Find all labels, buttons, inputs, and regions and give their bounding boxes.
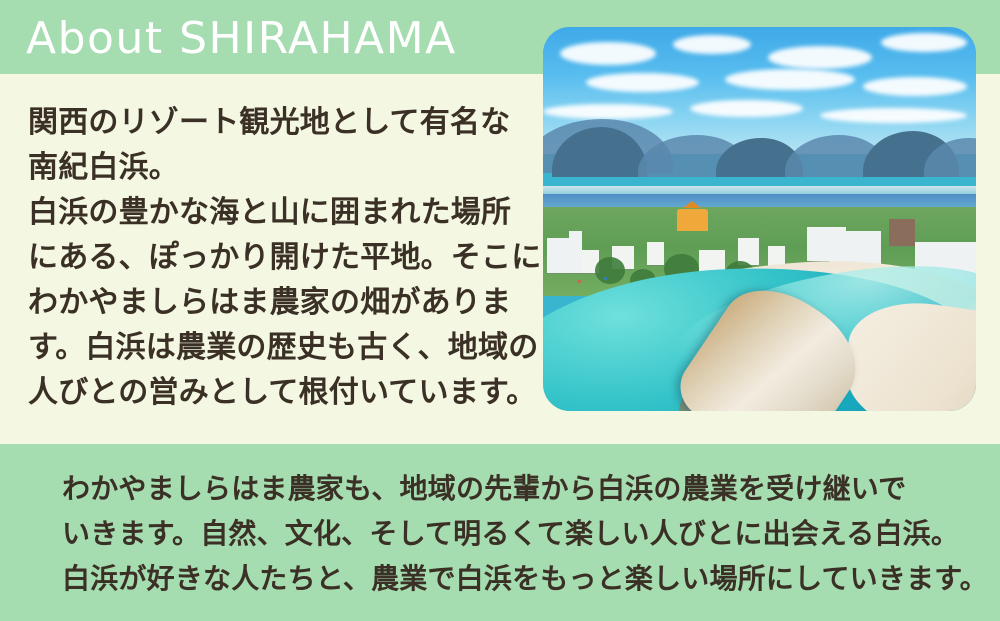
- shirahama-beach-photo: [543, 27, 976, 411]
- intro-line: 人びとの営みとして根付いています。: [28, 370, 528, 415]
- intro-paragraph: 関西のリゾート観光地として有名な 南紀白浜。 白浜の豊かな海と山に囲まれた場所 …: [28, 100, 528, 415]
- closing-line: いきます。自然、文化、そして明るくて楽しい人びとに出会える白浜。: [62, 511, 962, 556]
- intro-line: 関西のリゾート観光地として有名な: [28, 100, 528, 145]
- page-title: About SHIRAHAMA: [26, 14, 457, 64]
- intro-line: 白浜の豊かな海と山に囲まれた場所: [28, 190, 528, 235]
- closing-line: わかやましらはま農家も、地域の先輩から白浜の農業を受け継いで: [62, 466, 962, 511]
- intro-line: す。白浜は農業の歴史も古く、地域の: [28, 325, 528, 370]
- closing-section: わかやましらはま農家も、地域の先輩から白浜の農業を受け継いで いきます。自然、文…: [0, 444, 1000, 621]
- closing-line: 白浜が好きな人たちと、農業で白浜をもっと楽しい場所にしていきます。: [62, 556, 962, 601]
- photo-water-layer: [543, 27, 976, 411]
- about-shirahama-page: About SHIRAHAMA 関西のリゾート観光地として有名な 南紀白浜。 白…: [0, 0, 1000, 621]
- intro-line: わかやましらはま農家の畑がありま: [28, 280, 528, 325]
- intro-line: 南紀白浜。: [28, 145, 528, 190]
- closing-paragraph: わかやましらはま農家も、地域の先輩から白浜の農業を受け継いで いきます。自然、文…: [62, 466, 962, 601]
- intro-line: にある、ぽっかり開けた平地。そこに: [28, 235, 528, 280]
